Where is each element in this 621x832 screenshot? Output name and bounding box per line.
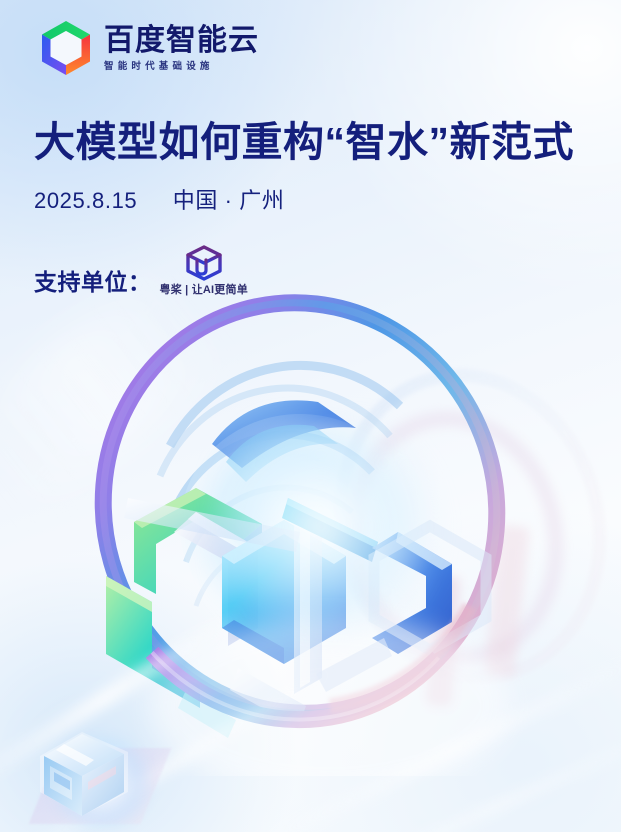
headline-block: 大模型如何重构“智水”新范式 2025.8.15 中国 · 广州 支持单位：	[34, 120, 594, 296]
artwork-center-glow	[215, 421, 445, 641]
brand-logo-text: 百度智能云 智能时代基础设施	[104, 24, 259, 72]
event-location: 中国 · 广州	[173, 188, 285, 213]
glass-hexagon-3d-artwork	[0, 276, 621, 776]
page-title: 大模型如何重构“智水”新范式	[34, 120, 594, 166]
event-date: 2025.8.15	[34, 188, 137, 213]
brand-logo: 百度智能云 智能时代基础设施	[38, 18, 259, 78]
glass-ice-cube-icon	[22, 720, 192, 830]
event-meta: 2025.8.15 中国 · 广州	[34, 183, 594, 215]
brand-tagline: 智能时代基础设施	[104, 62, 259, 72]
event-poster: 百度智能云 智能时代基础设施 大模型如何重构“智水”新范式 2025.8.15 …	[0, 0, 621, 832]
baidu-cloud-hexagon-icon	[38, 18, 94, 78]
brand-wordmark: 百度智能云	[104, 26, 259, 56]
